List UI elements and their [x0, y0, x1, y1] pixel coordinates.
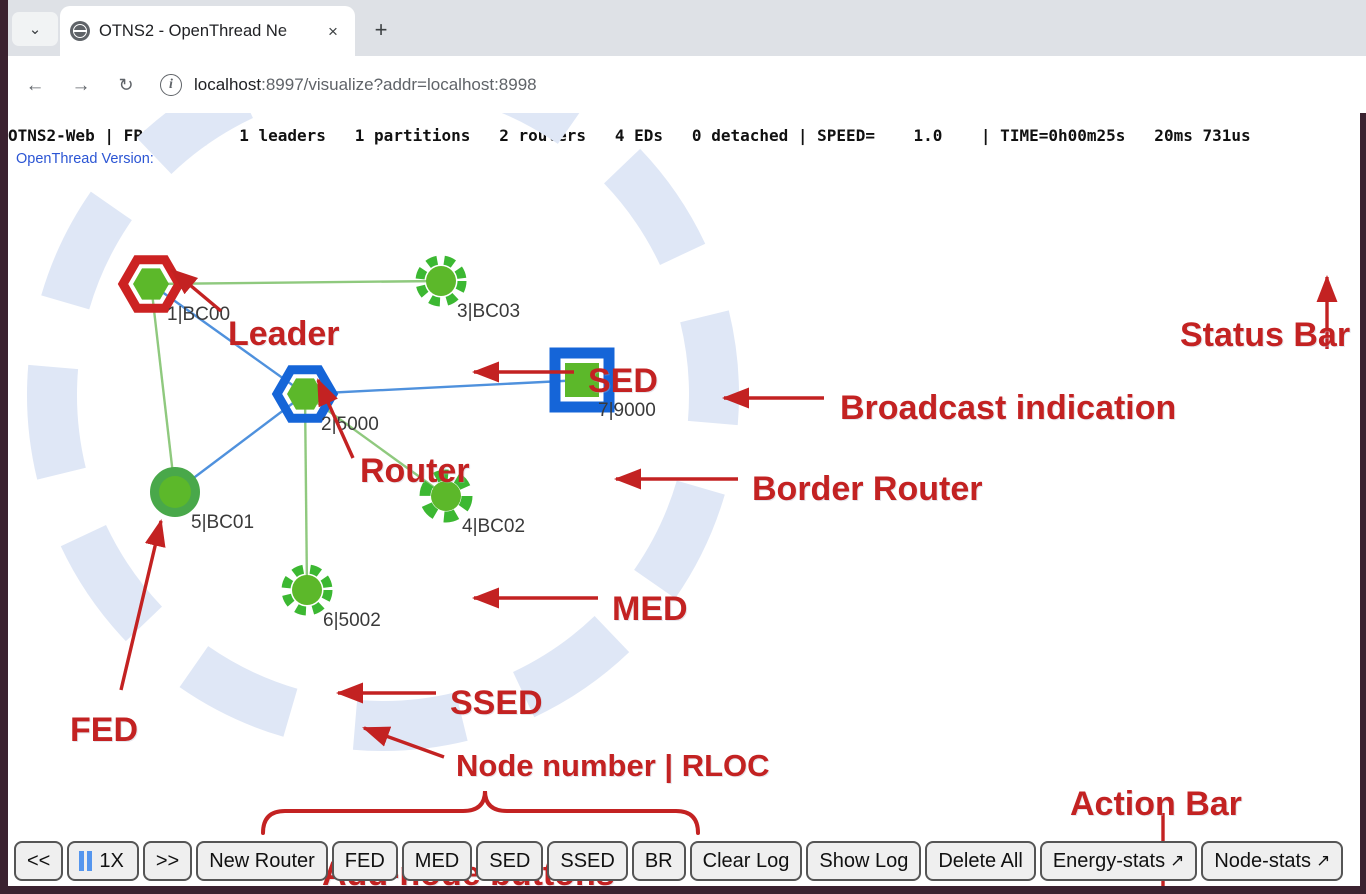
window-border-right — [1360, 113, 1366, 894]
new-router-button-label: New Router — [209, 850, 315, 873]
add-br-button[interactable]: BR — [632, 841, 686, 881]
visualizer-page: OTNS2-Web | FPS= 60 | 1 leaders 1 partit… — [8, 113, 1360, 886]
globe-icon — [70, 21, 90, 41]
add-fed-button-label: FED — [345, 850, 385, 873]
new-router-button[interactable]: New Router — [196, 841, 328, 881]
show-log-button-label: Show Log — [819, 850, 908, 873]
annotation-fed: FED — [70, 711, 138, 750]
annotation-border-router: Border Router — [752, 470, 982, 509]
forward-icon[interactable]: → — [66, 70, 96, 100]
annotation-med: MED — [612, 590, 688, 629]
url-rest: :8997/visualize?addr=localhost:8998 — [261, 75, 537, 94]
clear-log-button-label: Clear Log — [703, 850, 790, 873]
add-ssed-button[interactable]: SSED — [547, 841, 627, 881]
annotation-sed: SED — [588, 362, 658, 401]
step-forward-button-label: >> — [156, 850, 179, 873]
url-host: localhost — [194, 75, 261, 94]
speed-button-label: 1X — [99, 850, 123, 873]
node-stats-button-label: Node-stats — [1214, 850, 1311, 873]
external-link-icon: ↗ — [1316, 851, 1330, 871]
delete-all-button-label: Delete All — [938, 850, 1023, 873]
new-tab-button[interactable]: + — [365, 14, 397, 46]
energy-stats-button-label: Energy-stats — [1053, 850, 1165, 873]
clear-log-button[interactable]: Clear Log — [690, 841, 803, 881]
annotation-leader: Leader — [228, 315, 340, 354]
add-med-button-label: MED — [415, 850, 459, 873]
arrow-node-number — [364, 728, 444, 757]
window-border-bottom — [0, 886, 1366, 894]
tab-title: OTNS2 - OpenThread Ne — [99, 22, 321, 41]
url-text: localhost:8997/visualize?addr=localhost:… — [194, 75, 537, 95]
annotation-action-bar: Action Bar — [1070, 785, 1242, 824]
back-icon[interactable]: ← — [20, 70, 50, 100]
node-stats-button[interactable]: Node-stats↗ — [1201, 841, 1343, 881]
arrow-router — [318, 380, 353, 458]
window-border-left — [0, 113, 8, 894]
external-link-icon: ↗ — [1170, 851, 1184, 871]
browser-tab-strip: ⌄ OTNS2 - OpenThread Ne × + — [0, 0, 1366, 57]
step-forward-button[interactable]: >> — [143, 841, 192, 881]
add-node-brace — [263, 791, 698, 833]
arrow-fed — [121, 521, 161, 690]
add-fed-button[interactable]: FED — [332, 841, 398, 881]
add-sed-button[interactable]: SED — [476, 841, 543, 881]
annotation-node-number-rloc: Node number | RLOC — [456, 748, 770, 784]
speed-button[interactable]: 1X — [67, 841, 138, 881]
energy-stats-button[interactable]: Energy-stats↗ — [1040, 841, 1198, 881]
pause-icon — [79, 851, 92, 871]
browser-tab[interactable]: OTNS2 - OpenThread Ne × — [60, 6, 355, 56]
add-br-button-label: BR — [645, 850, 673, 873]
delete-all-button[interactable]: Delete All — [925, 841, 1036, 881]
site-info-icon[interactable]: i — [160, 74, 182, 96]
reload-icon[interactable]: ↻ — [111, 70, 141, 100]
browser-toolbar: ← → ↻ i localhost:8997/visualize?addr=lo… — [0, 56, 1366, 114]
close-icon[interactable]: × — [321, 19, 345, 43]
annotation-ssed: SSED — [450, 684, 543, 723]
arrow-leader — [172, 270, 221, 311]
add-med-button[interactable]: MED — [402, 841, 472, 881]
step-back-button-label: << — [27, 850, 50, 873]
tab-list-chevron-icon[interactable]: ⌄ — [12, 12, 58, 46]
annotation-status-bar: Status Bar — [1180, 316, 1350, 355]
step-back-button[interactable]: << — [14, 841, 63, 881]
show-log-button[interactable]: Show Log — [806, 841, 921, 881]
action-bar[interactable]: <<1X>>New RouterFEDMEDSEDSSEDBRClear Log… — [8, 836, 1360, 886]
add-ssed-button-label: SSED — [560, 850, 614, 873]
add-sed-button-label: SED — [489, 850, 530, 873]
annotation-router: Router — [360, 452, 470, 491]
annotation-broadcast: Broadcast indication — [840, 389, 1176, 428]
address-bar[interactable]: i localhost:8997/visualize?addr=localhos… — [160, 69, 1340, 101]
